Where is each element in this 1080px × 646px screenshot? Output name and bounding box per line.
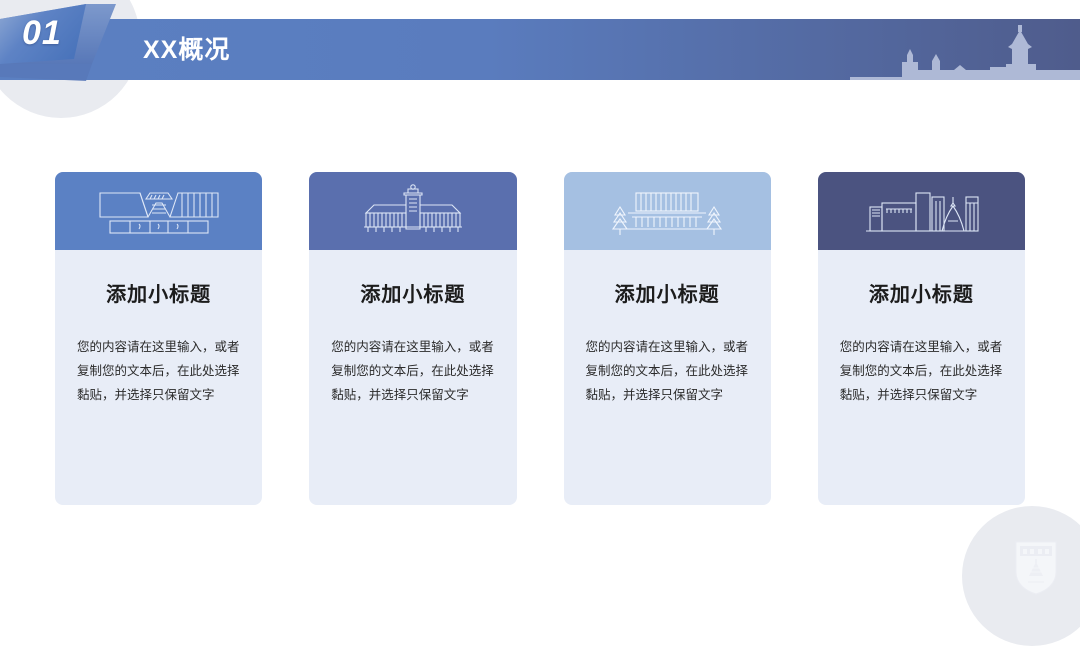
card-title: 添加小标题 xyxy=(840,278,1003,307)
card-title: 添加小标题 xyxy=(586,278,749,307)
card-header xyxy=(818,172,1025,250)
section-number-label: 01 xyxy=(22,14,62,53)
feature-card[interactable]: 添加小标题 您的内容请在这里输入，或者复制您的文本后，在此处选择黏贴，并选择只保… xyxy=(564,172,771,505)
card-header xyxy=(564,172,771,250)
feature-card[interactable]: 添加小标题 您的内容请在这里输入，或者复制您的文本后，在此处选择黏贴，并选择只保… xyxy=(818,172,1025,505)
card-body: 添加小标题 您的内容请在这里输入，或者复制您的文本后，在此处选择黏贴，并选择只保… xyxy=(55,250,262,505)
feature-card[interactable]: 添加小标题 您的内容请在这里输入，或者复制您的文本后，在此处选择黏贴，并选择只保… xyxy=(309,172,516,505)
stadium-arena-icon xyxy=(94,183,224,239)
feature-card[interactable]: 添加小标题 您的内容请在这里输入，或者复制您的文本后，在此处选择黏贴，并选择只保… xyxy=(55,172,262,505)
university-crest-shield-icon xyxy=(1014,540,1058,596)
city-skyline-silhouette-icon xyxy=(850,19,1080,80)
feature-card-list: 添加小标题 您的内容请在这里输入，或者复制您的文本后，在此处选择黏贴，并选择只保… xyxy=(55,172,1025,505)
card-header xyxy=(55,172,262,250)
slide-header: 01 XX概况 xyxy=(0,0,1080,118)
card-text: 您的内容请在这里输入，或者复制您的文本后，在此处选择黏贴，并选择只保留文字 xyxy=(331,335,494,407)
card-text: 您的内容请在这里输入，或者复制您的文本后，在此处选择黏贴，并选择只保留文字 xyxy=(77,335,240,407)
railway-station-clocktower-icon xyxy=(348,183,478,239)
card-body: 添加小标题 您的内容请在这里输入，或者复制您的文本后，在此处选择黏贴，并选择只保… xyxy=(818,250,1025,505)
page-title: XX概况 xyxy=(143,30,230,66)
exhibition-hall-trees-icon xyxy=(602,183,732,239)
card-header xyxy=(309,172,516,250)
card-body: 添加小标题 您的内容请在这里输入，或者复制您的文本后，在此处选择黏贴，并选择只保… xyxy=(564,250,771,505)
card-text: 您的内容请在这里输入，或者复制您的文本后，在此处选择黏贴，并选择只保留文字 xyxy=(586,335,749,407)
card-text: 您的内容请在这里输入，或者复制您的文本后，在此处选择黏贴，并选择只保留文字 xyxy=(840,335,1003,407)
card-title: 添加小标题 xyxy=(331,278,494,307)
card-body: 添加小标题 您的内容请在这里输入，或者复制您的文本后，在此处选择黏贴，并选择只保… xyxy=(309,250,516,505)
city-skyline-tower-icon xyxy=(856,183,986,239)
card-title: 添加小标题 xyxy=(77,278,240,307)
